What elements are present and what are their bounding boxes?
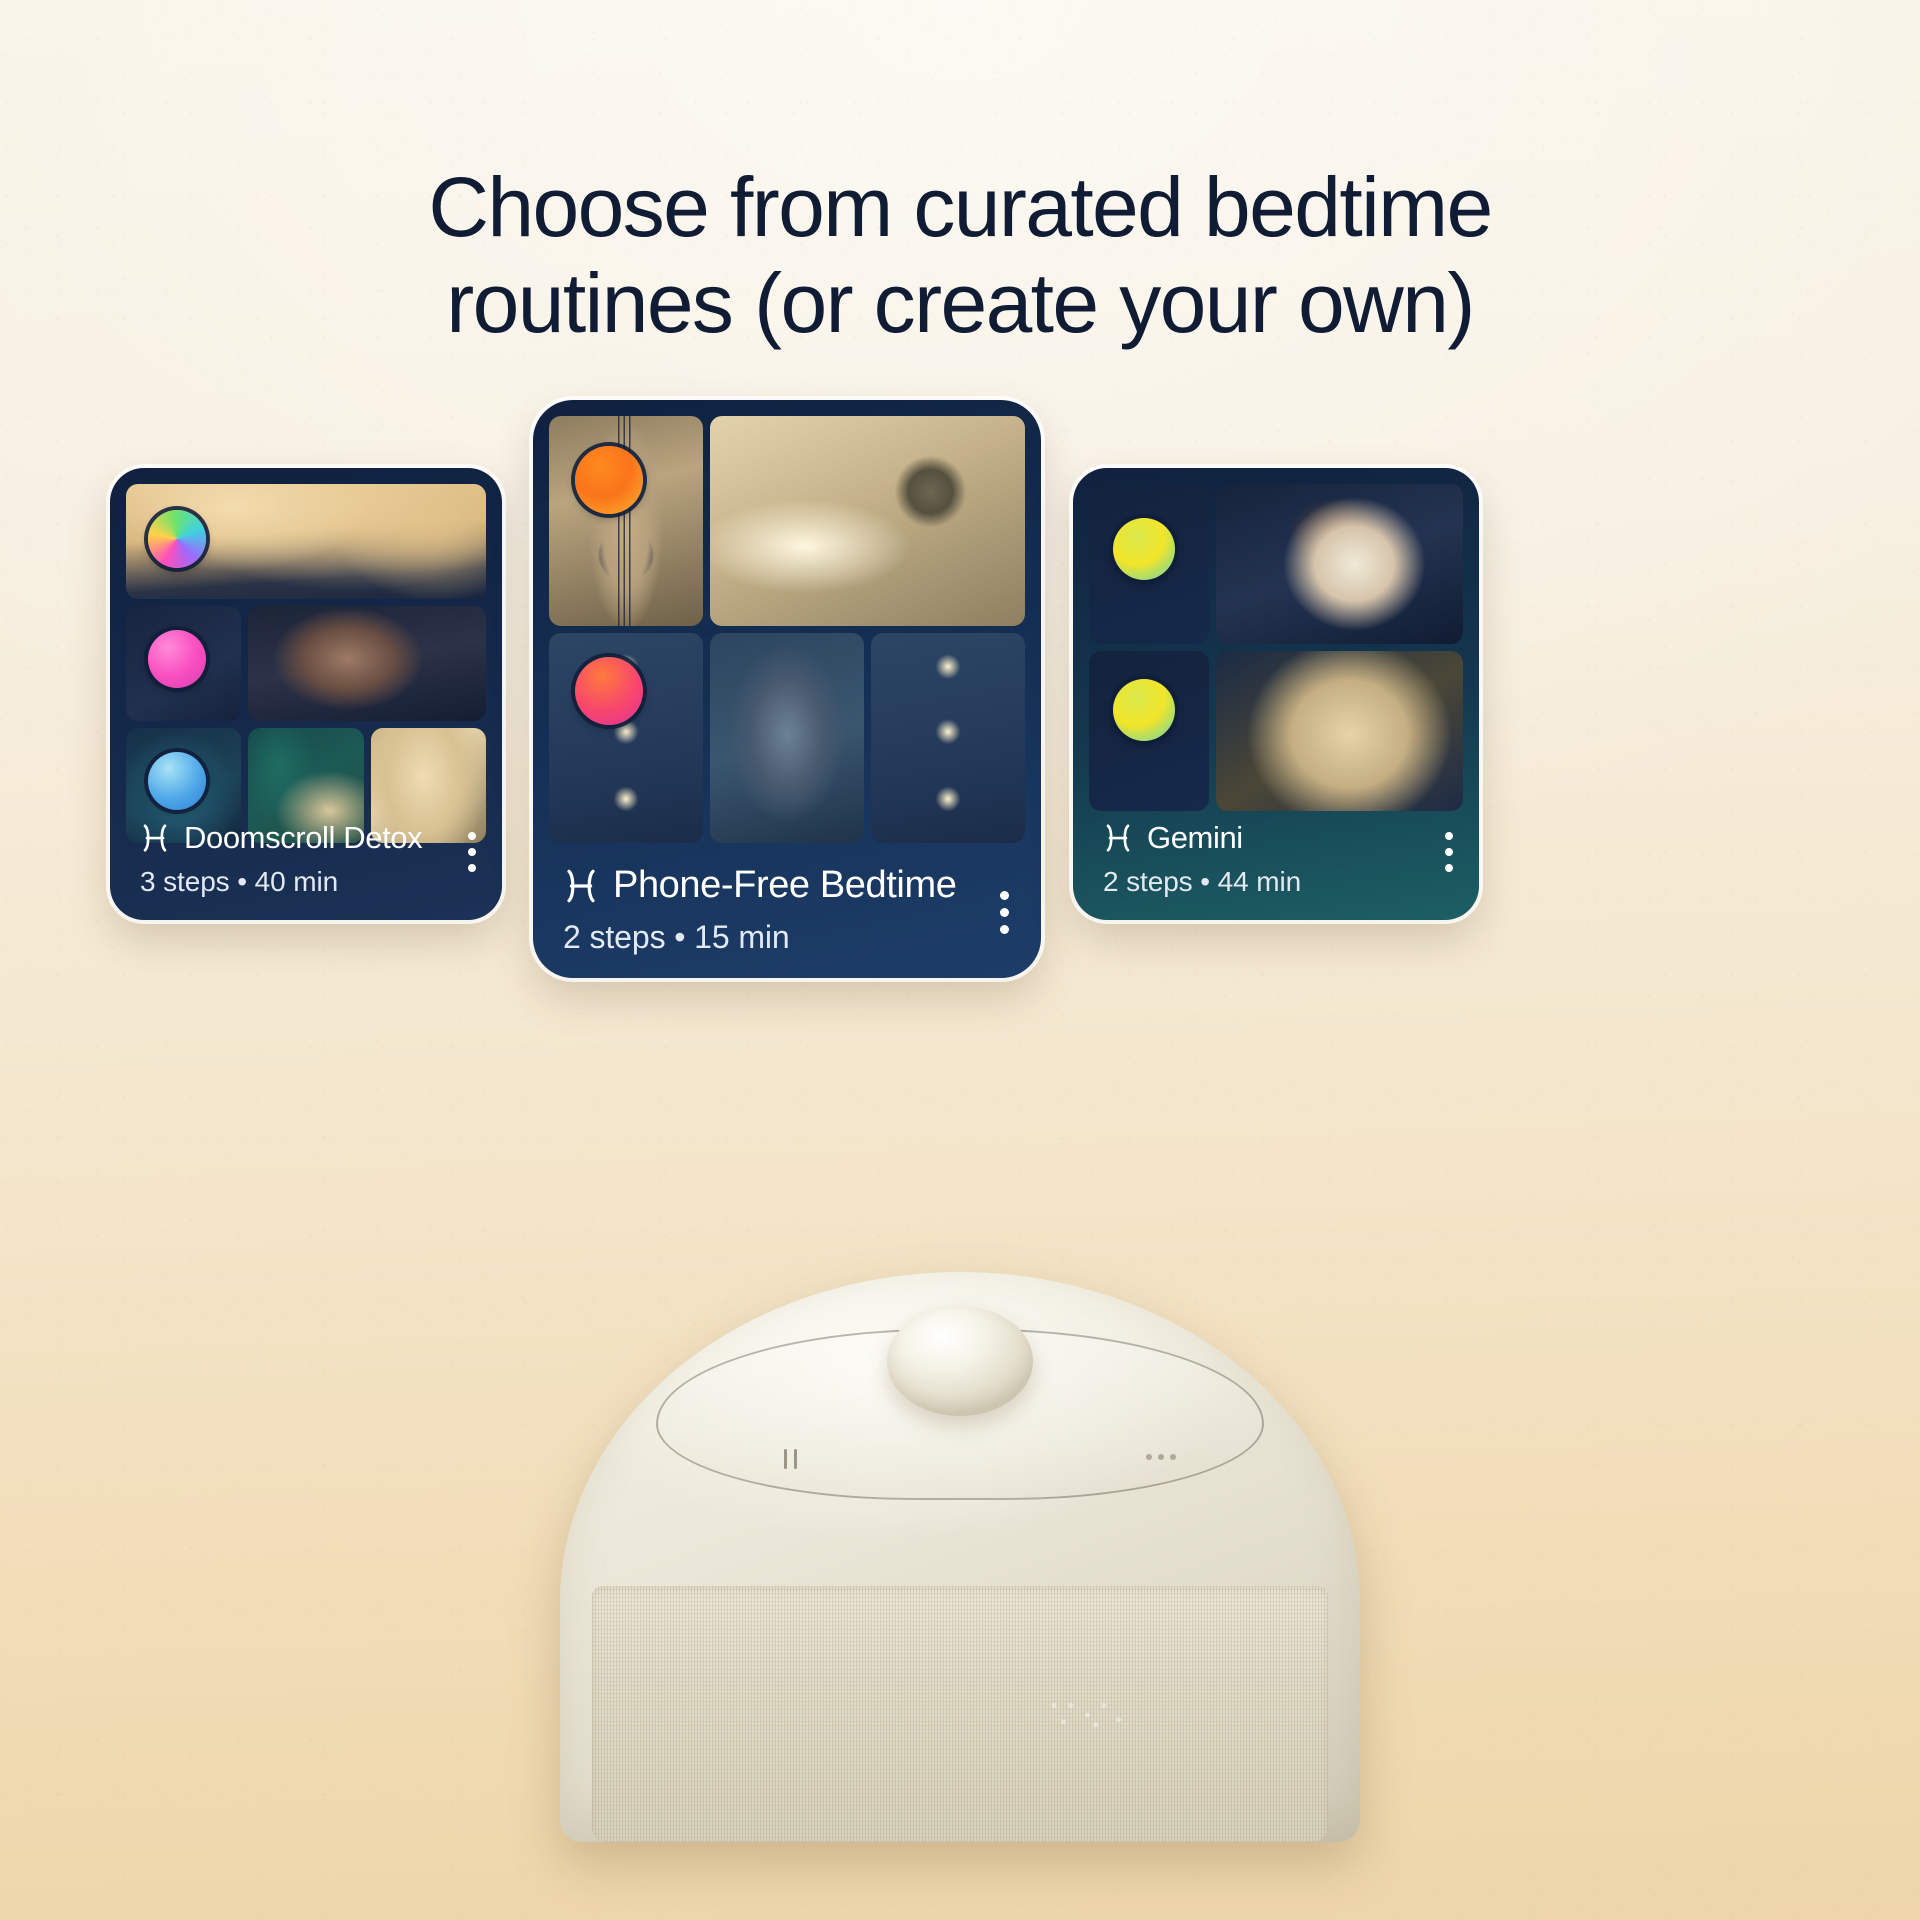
rotary-dome-knob[interactable]: [887, 1306, 1033, 1416]
headline-line-1: Choose from curated bedtime: [428, 160, 1491, 254]
tile-cat-with-sunglasses-artwork: [710, 633, 864, 843]
pink-gradient-circle-badge: [148, 630, 206, 688]
tile-vanity-bulbs-right: [871, 633, 1025, 843]
kebab-dot: [468, 864, 476, 872]
kebab-dot: [1000, 891, 1009, 900]
page-title: Choose from curated bedtime routines (or…: [210, 160, 1710, 352]
kebab-dot: [1445, 864, 1453, 872]
card-title: Phone-Free Bedtime: [613, 864, 956, 907]
routine-image-grid: [110, 468, 502, 838]
card-menu-button-phone-free-bedtime[interactable]: [1000, 891, 1009, 934]
routine-card-gemini[interactable]: Gemini 2 steps • 44 min: [1073, 468, 1479, 920]
yellow-gradient-circle-badge: [1113, 679, 1175, 741]
routine-card-doomscroll-detox[interactable]: Doomscroll Detox 3 steps • 40 min: [110, 468, 502, 920]
google-home-icon: [563, 868, 599, 904]
card-footer: Doomscroll Detox 3 steps • 40 min: [110, 820, 502, 920]
kebab-dot: [1000, 925, 1009, 934]
blue-gradient-circle-badge: [148, 752, 206, 810]
bedside-smart-speaker: [560, 1272, 1360, 1842]
tile-badge-slot-top: [1089, 484, 1209, 644]
tile-acoustic-guitar-artwork: [549, 416, 703, 626]
routine-card-phone-free-bedtime[interactable]: Phone-Free Bedtime 2 steps • 15 min: [533, 400, 1041, 978]
google-home-icon: [1103, 823, 1133, 853]
card-meta: 2 steps • 44 min: [1103, 866, 1449, 898]
tile-microphone-artwork: [710, 416, 1025, 626]
kebab-dot: [468, 832, 476, 840]
tile-vanity-bulbs-left: [549, 633, 703, 843]
pause-icon[interactable]: [784, 1449, 797, 1469]
tile-badge-slot-bottom: [1089, 651, 1209, 811]
card-meta: 2 steps • 15 min: [563, 919, 1011, 956]
routine-image-grid: [533, 400, 1041, 850]
card-menu-button-doomscroll-detox[interactable]: [468, 832, 476, 872]
tile-dark-navy: [126, 606, 241, 721]
orange-gradient-circle-badge: [575, 446, 643, 514]
headline-line-2: routines (or create your own): [446, 256, 1473, 350]
tile-woman-portrait-artwork: [1216, 484, 1463, 644]
tile-portrait-photo: [248, 606, 486, 721]
card-footer: Gemini 2 steps • 44 min: [1073, 820, 1479, 920]
kebab-dot: [1445, 832, 1453, 840]
rainbow-gradient-circle-badge: [148, 510, 206, 568]
card-meta: 3 steps • 40 min: [140, 866, 472, 898]
card-footer: Phone-Free Bedtime 2 steps • 15 min: [533, 864, 1041, 978]
led-dot-matrix-display: [1045, 1698, 1137, 1732]
card-title: Doomscroll Detox: [184, 820, 422, 856]
card-title: Gemini: [1147, 820, 1243, 856]
speaker-body: [560, 1272, 1360, 1842]
card-title-row: Doomscroll Detox: [140, 820, 472, 856]
card-menu-button-gemini[interactable]: [1445, 832, 1453, 872]
magenta-gradient-circle-badge: [575, 657, 643, 725]
yellow-gradient-circle-badge: [1113, 518, 1175, 580]
tile-honey-pour-artwork: [126, 484, 486, 599]
kebab-dot: [468, 848, 476, 856]
kebab-dot: [1445, 848, 1453, 856]
linen-fabric-grille: [592, 1586, 1328, 1843]
google-home-icon: [140, 823, 170, 853]
routine-image-grid: [1073, 468, 1479, 818]
card-title-row: Phone-Free Bedtime: [563, 864, 1011, 907]
card-title-row: Gemini: [1103, 820, 1449, 856]
tile-golden-spiral-artwork: [1216, 651, 1463, 811]
kebab-dot: [1000, 908, 1009, 917]
dots-indicator-icon[interactable]: [1146, 1454, 1176, 1460]
